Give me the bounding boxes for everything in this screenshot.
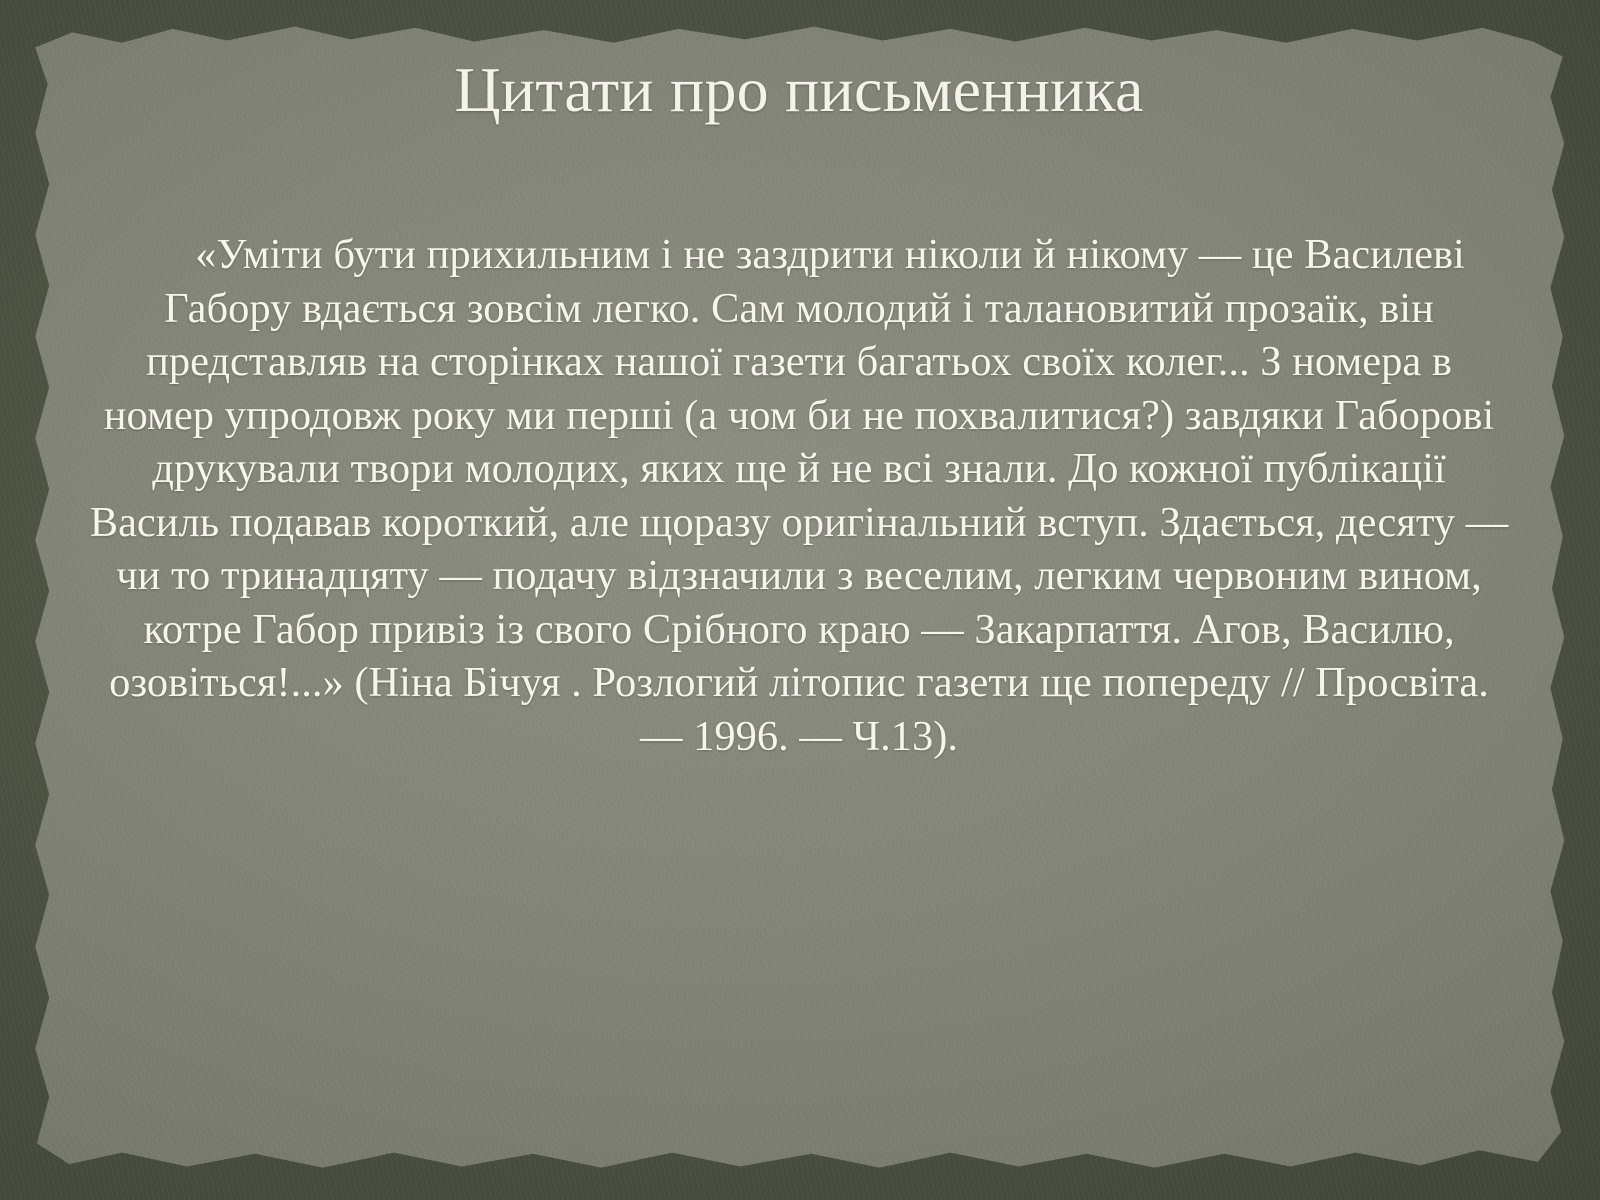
page-title: Цитати про письменника <box>26 56 1572 123</box>
quote-text: «Уміти бути прихильним і не заздрити нік… <box>89 228 1509 763</box>
slide-content: Цитати про письменника «Уміти бути прихи… <box>26 22 1572 1178</box>
slide-background: Цитати про письменника «Уміти бути прихи… <box>0 0 1600 1200</box>
